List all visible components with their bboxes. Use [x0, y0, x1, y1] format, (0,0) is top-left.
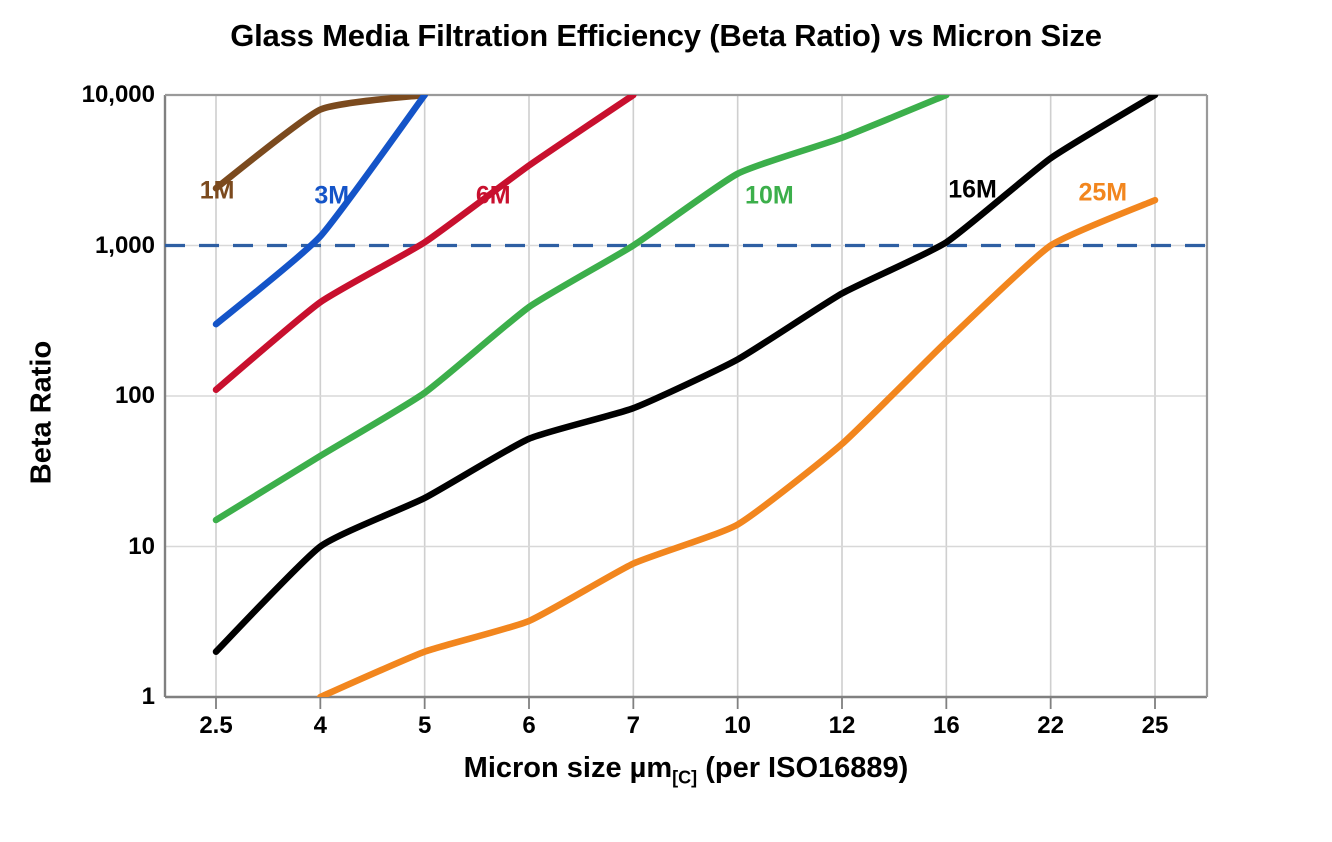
- x-tick-label-5: 5: [418, 712, 431, 740]
- chart-container: Glass Media Filtration Efficiency (Beta …: [0, 0, 1332, 842]
- series-label-6M: 6M: [476, 182, 511, 211]
- y-tick-label-10: 10: [128, 533, 155, 561]
- series-line-10M: [216, 95, 946, 520]
- x-tick-label-22: 22: [1037, 712, 1064, 740]
- x-tick-label-10: 10: [724, 712, 751, 740]
- x-tick-label-6: 6: [522, 712, 535, 740]
- x-tick-label-7: 7: [627, 712, 640, 740]
- series-label-10M: 10M: [745, 182, 794, 211]
- x-tick-label-4: 4: [314, 712, 327, 740]
- x-axis-title-subscript: [C]: [672, 767, 697, 787]
- y-axis-title: Beta Ratio: [26, 263, 59, 563]
- plot-area: 1M3M6M10M16M25M: [165, 95, 1207, 697]
- series-label-3M: 3M: [314, 182, 349, 211]
- x-axis-title-suffix: (per ISO16889): [697, 752, 908, 784]
- y-axis-tick-labels: 1101001,00010,000: [0, 95, 155, 697]
- series-line-16M: [216, 95, 1155, 652]
- y-tick-label-10000: 10,000: [82, 81, 155, 109]
- x-axis-tick-labels: 2.545671012162225: [165, 712, 1207, 746]
- y-tick-label-1000: 1,000: [95, 232, 155, 260]
- x-tick-label-12: 12: [829, 712, 856, 740]
- x-axis-title: Micron size µm[C] (per ISO16889): [165, 752, 1207, 788]
- x-tick-label-2.5: 2.5: [199, 712, 232, 740]
- x-tick-label-25: 25: [1142, 712, 1169, 740]
- x-axis-title-main: Micron size µm: [464, 752, 672, 784]
- y-tick-label-1: 1: [142, 683, 155, 711]
- x-tick-label-16: 16: [933, 712, 960, 740]
- series-label-1M: 1M: [200, 177, 235, 206]
- series-label-16M: 16M: [948, 176, 997, 205]
- y-tick-label-100: 100: [115, 382, 155, 410]
- chart-title: Glass Media Filtration Efficiency (Beta …: [0, 18, 1332, 54]
- series-label-25M: 25M: [1078, 179, 1127, 208]
